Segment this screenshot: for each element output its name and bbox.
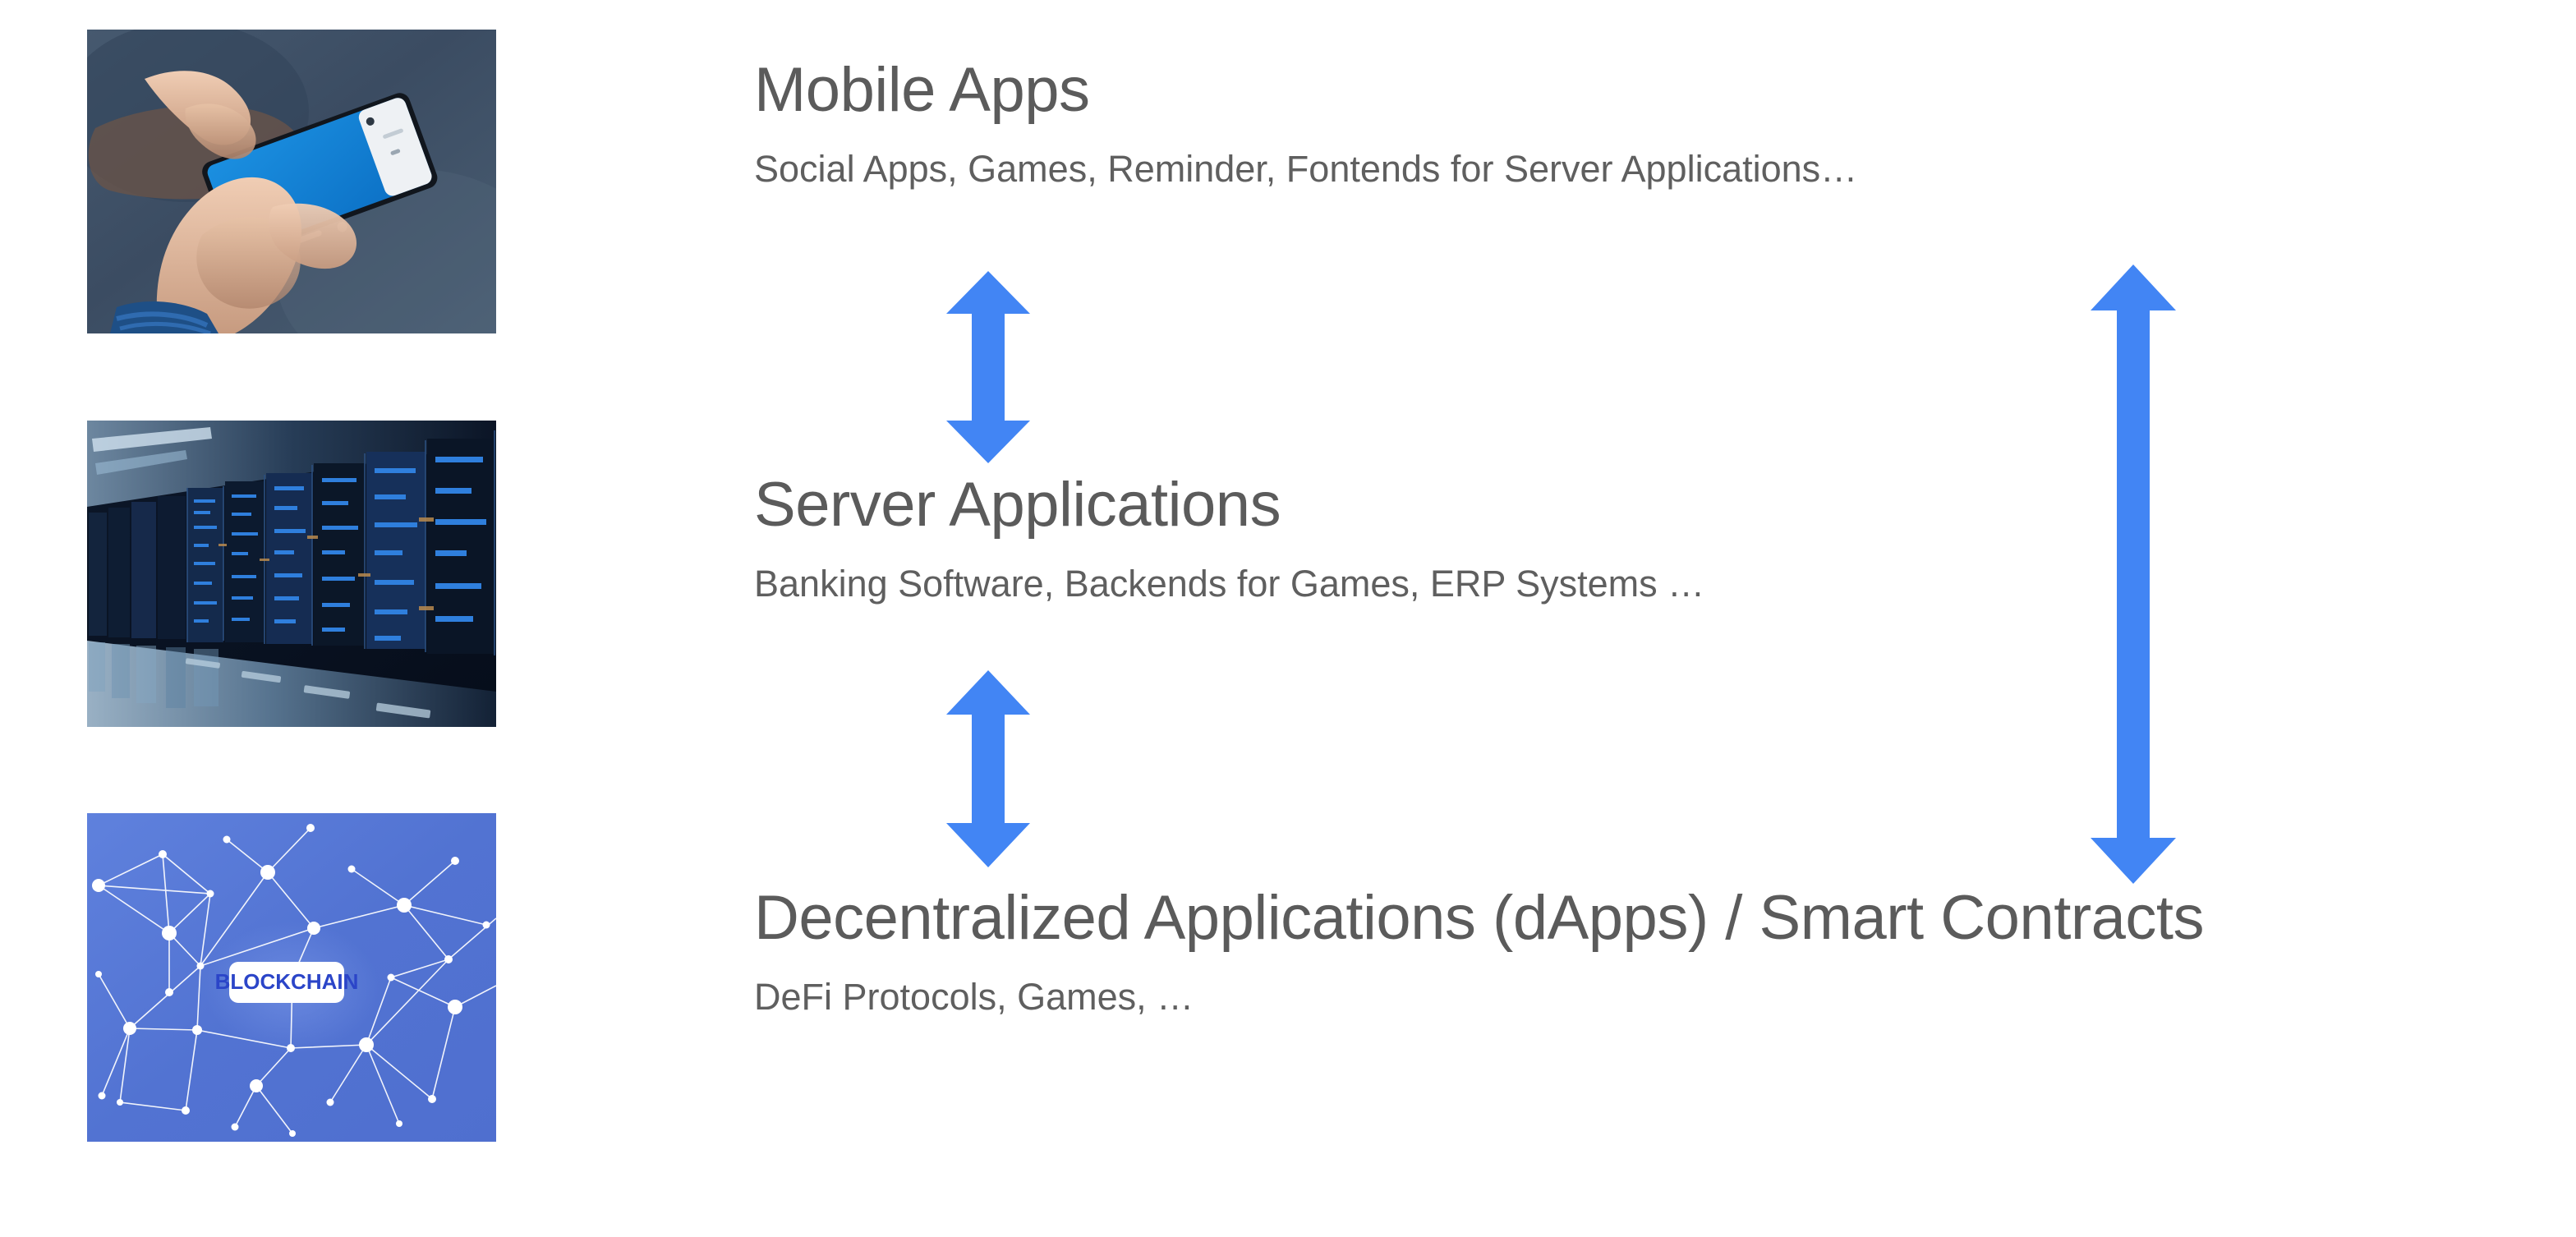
blockchain-label: BLOCKCHAIN bbox=[215, 969, 359, 994]
subtitle-mobile-apps: Social Apps, Games, Reminder, Fontends f… bbox=[754, 149, 2543, 190]
slide-canvas: BLOCKCHAIN Mobile Apps Social Apps, Game… bbox=[0, 0, 2576, 1237]
server-room-photo bbox=[87, 421, 496, 727]
heading-server-applications: Server Applications bbox=[754, 472, 2543, 539]
arrow-mobile-to-dapps bbox=[2091, 264, 2176, 884]
blockchain-network-graphic: BLOCKCHAIN bbox=[87, 813, 496, 1142]
block-decentralized-applications: Decentralized Applications (dApps) / Sma… bbox=[754, 885, 2543, 1017]
subtitle-server-applications: Banking Software, Backends for Games, ER… bbox=[754, 563, 2543, 605]
arrow-server-to-dapps bbox=[946, 670, 1030, 867]
subtitle-decentralized-applications: DeFi Protocols, Games, … bbox=[754, 977, 2543, 1018]
block-mobile-apps: Mobile Apps Social Apps, Games, Reminder… bbox=[754, 57, 2543, 189]
arrow-mobile-to-server bbox=[946, 271, 1030, 463]
heading-decentralized-applications: Decentralized Applications (dApps) / Sma… bbox=[754, 885, 2543, 952]
mobile-phone-photo bbox=[87, 30, 496, 333]
block-server-applications: Server Applications Banking Software, Ba… bbox=[754, 472, 2543, 604]
heading-mobile-apps: Mobile Apps bbox=[754, 57, 2543, 124]
